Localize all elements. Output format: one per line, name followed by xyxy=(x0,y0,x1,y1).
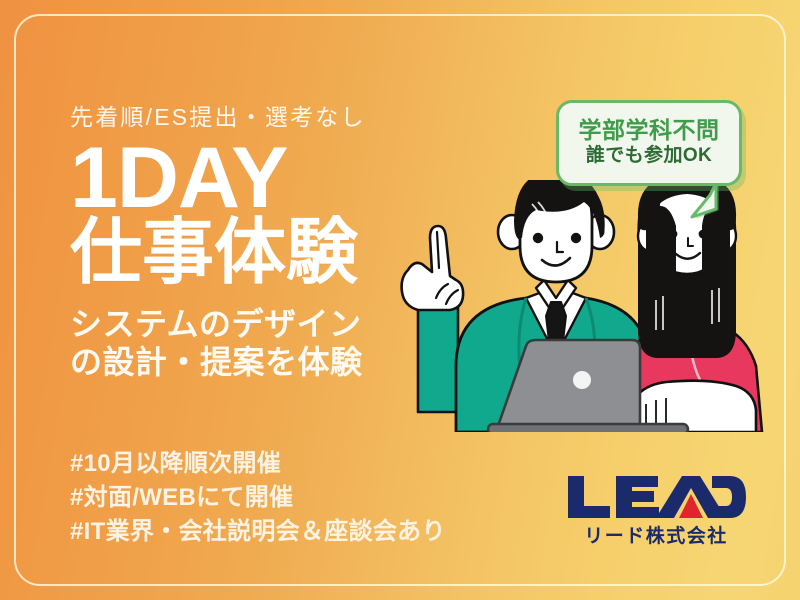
lead-logo: リード株式会社 xyxy=(566,472,746,548)
lead-company-name: リード株式会社 xyxy=(566,521,746,548)
female-eye-left xyxy=(669,230,678,239)
hashtag-item: #IT業界・会社説明会＆座談会あり xyxy=(70,515,446,549)
male-pointing-arm xyxy=(402,226,464,412)
speech-bubble-line-2: 誰でも参加OK xyxy=(586,145,712,168)
laptop-logo-icon xyxy=(573,371,591,389)
speech-bubble: 学部学科不問 誰でも参加OK xyxy=(556,100,742,186)
male-eye-right xyxy=(571,233,581,243)
lead-wordmark-icon xyxy=(566,472,746,520)
speech-bubble-tail-icon xyxy=(690,183,720,219)
characters-illustration xyxy=(370,180,800,440)
eyebrow-text: 先着順/ES提出・選考なし xyxy=(70,104,470,132)
hashtag-item: #10月以降順次開催 xyxy=(70,447,446,481)
female-eye-right xyxy=(699,230,708,239)
speech-bubble-line-1: 学部学科不問 xyxy=(579,118,720,143)
hashtag-item: #対面/WEBにて開催 xyxy=(70,481,446,515)
poster-canvas: 先着順/ES提出・選考なし 1DAY 仕事体験 システムのデザイン の設計・提案… xyxy=(0,0,800,600)
male-head xyxy=(498,180,614,282)
male-eye-left xyxy=(533,233,543,243)
hashtag-list: #10月以降順次開催 #対面/WEBにて開催 #IT業界・会社説明会＆座談会あり xyxy=(70,447,446,549)
